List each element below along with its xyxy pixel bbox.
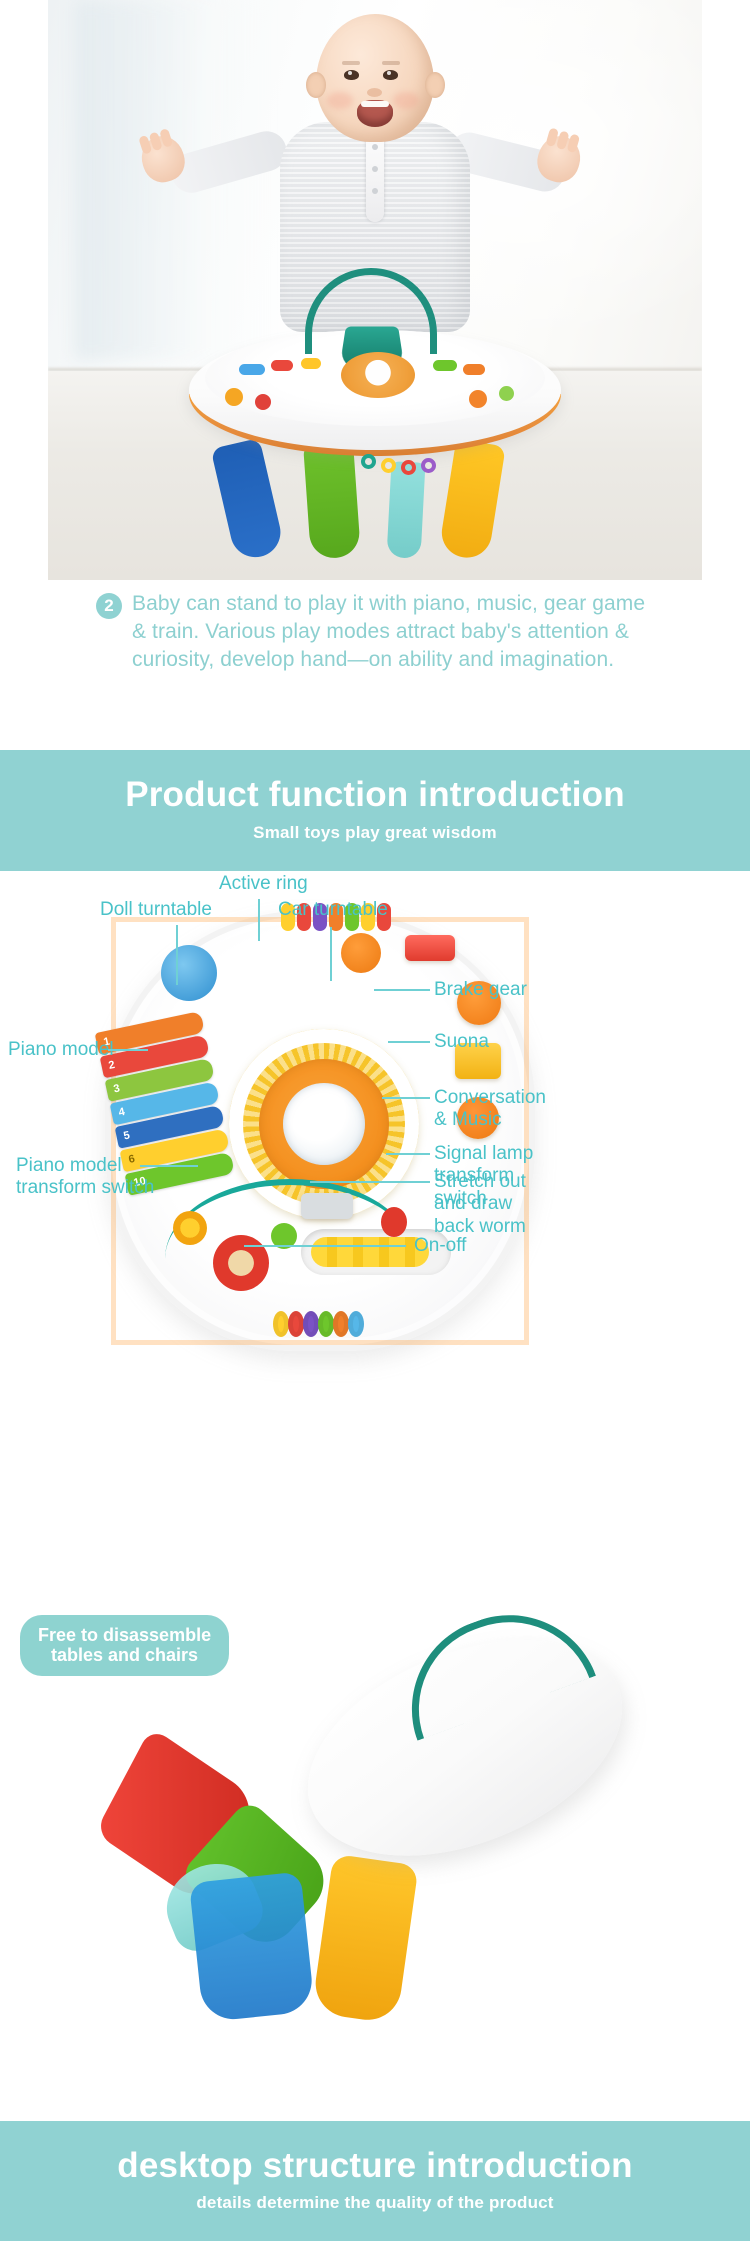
leader-suona (388, 1041, 430, 1043)
toy-center-wheel (341, 352, 415, 398)
banner-title: Product function introduction (0, 776, 750, 815)
label-on-off: On-off (414, 1235, 466, 1258)
leader-doll-turntable (176, 925, 178, 985)
leader-piano-model-transform (140, 1165, 198, 1167)
leader-conversation-music (382, 1097, 430, 1099)
label-piano-model-transform: Piano model transform switch (16, 1155, 154, 1201)
toy-leg-green (303, 440, 361, 559)
disassemble-section: Free to disassemble tables and chairs (0, 1601, 750, 2121)
brake-gear-lever (405, 935, 455, 961)
banner-desktop-structure: desktop structure introduction details d… (0, 2121, 750, 2241)
label-car-turntable: Car turntable (278, 899, 388, 922)
apple-button (381, 1207, 407, 1237)
exploded-leg-yellow (311, 1853, 418, 2023)
gear-center-hub (283, 1083, 365, 1165)
badge-line-1: Free to disassemble (38, 1625, 211, 1646)
toy-leg-yellow (438, 439, 506, 561)
baby-ear-right (425, 72, 445, 98)
leader-on-off (244, 1245, 406, 1247)
activity-table-toy (165, 268, 585, 558)
label-active-ring: Active ring (219, 873, 308, 896)
leader-car-turntable (330, 927, 332, 981)
on-off-switch (301, 1193, 353, 1219)
label-suona: Suona (434, 1031, 489, 1054)
doll-turntable (161, 945, 217, 1001)
badge-line-2: tables and chairs (38, 1645, 211, 1666)
leader-signal-lamp-transform (386, 1153, 430, 1155)
leader-stretch-draw-back-worm (310, 1181, 430, 1183)
leader-active-ring (258, 899, 260, 941)
function-diagram-section: 1 2 3 4 5 6 10 (0, 871, 750, 1601)
banner-subtitle: details determine the quality of the pro… (0, 2193, 750, 2213)
baby-mouth (357, 100, 393, 127)
exploded-leg-blue (189, 1871, 315, 2022)
baby-nose (367, 88, 382, 97)
label-doll-turntable: Doll turntable (100, 899, 212, 922)
leader-brake-gear (374, 989, 430, 991)
caption-step-number: 2 (96, 593, 122, 619)
banner-subtitle: Small toys play great wisdom (0, 823, 750, 843)
car-turntable (341, 933, 381, 973)
label-brake-gear: Brake gear (434, 979, 527, 1002)
label-conversation-music: Conversation & Music (434, 1087, 546, 1133)
banner-title: desktop structure introduction (0, 2147, 750, 2186)
toy-leg-teal (387, 461, 426, 559)
toy-leg-blue (211, 438, 286, 562)
label-stretch-draw-back-worm: Stretch out and draw back worm (434, 1171, 526, 1239)
flower-button-yellow (173, 1211, 207, 1245)
product-detail-page: 2 Baby can stand to play it with piano, … (0, 0, 750, 2241)
doll-face-button (213, 1235, 269, 1291)
hero-caption: 2 Baby can stand to play it with piano, … (96, 590, 654, 674)
bottom-ring-set (273, 1311, 393, 1337)
disassemble-badge: Free to disassemble tables and chairs (20, 1615, 229, 1677)
caption-text: Baby can stand to play it with piano, mu… (132, 590, 654, 674)
baby-eye-right (383, 70, 398, 80)
baby-ear-left (306, 72, 326, 98)
hero-section: 2 Baby can stand to play it with piano, … (0, 0, 750, 750)
leader-piano-model (108, 1049, 148, 1051)
hero-product-photo (48, 0, 702, 580)
label-piano-model: Piano model (8, 1039, 114, 1062)
baby-eye-left (344, 70, 359, 80)
exploded-product-photo (0, 1601, 750, 2121)
banner-product-function: Product function introduction Small toys… (0, 750, 750, 871)
